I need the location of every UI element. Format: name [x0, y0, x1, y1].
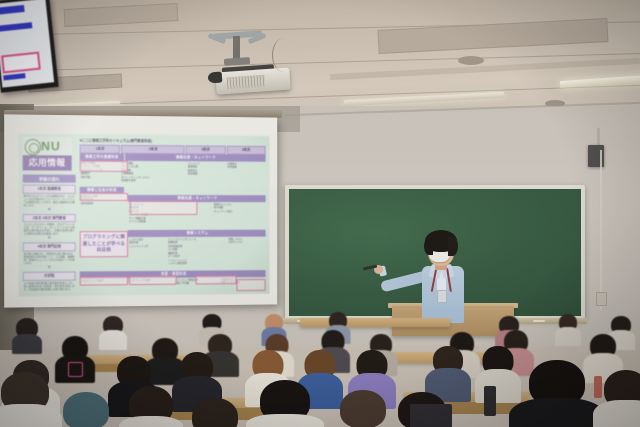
ceiling: [0, 0, 640, 118]
curriculum-table-title: ■ここに情報工学科カリキュラム(専門教育科目): [80, 138, 152, 143]
year-column-header: 4年次: [226, 146, 265, 155]
highlight-box: [237, 279, 266, 291]
flow-arrow-icon: ▼: [23, 208, 76, 212]
projection-screen: NU 応用情報 学部の流れ 1年次 基礎教育 数学やプログラミングの基礎を学び、…: [4, 114, 277, 307]
flow-step-body: 研究室に配属され、卒業研究に取り組みます。情報技術の応用分野として、人工知能、画…: [23, 251, 76, 264]
highlight-box: [129, 276, 177, 285]
course-list: 卒業研究特別講義: [227, 162, 264, 183]
presenter-id-badge: [437, 290, 447, 303]
speaker-mount: [597, 128, 600, 146]
highlight-box: [80, 161, 128, 172]
course-list: ヒューマンインタフェース画像処理音声情報処理人工知能機械学習データ科学シミュレー…: [168, 238, 227, 266]
highlight-box: [195, 275, 236, 284]
attendee: [520, 360, 594, 427]
year-column-header: 3年次: [186, 145, 226, 154]
flow-step-heading: 1年次 基礎教育: [23, 185, 76, 194]
attendee: [186, 398, 244, 427]
attendee: [0, 372, 56, 427]
ceiling-vent: [378, 18, 609, 54]
attendee: [598, 370, 640, 427]
flow-step-heading: 4年次 専門応用: [23, 243, 76, 252]
ceiling-vent: [64, 3, 179, 27]
university-emblem-icon: [25, 139, 41, 155]
projected-slide: NU 応用情報 学部の流れ 1年次 基礎教育 数学やプログラミングの基礎を学び、…: [19, 134, 270, 296]
course-list: システム設計要求分析ソフトウェア工学: [129, 238, 166, 266]
course-list: データ構造アルゴリズム論論理回路計算機構成オペレーティングシステム情報数学演習: [121, 162, 186, 183]
wall-monitor[interactable]: [0, 0, 59, 93]
highlight-box: [80, 193, 128, 201]
attendee: [14, 318, 40, 352]
attendee: [334, 390, 392, 427]
tote-bag: [410, 404, 452, 427]
attendee: [100, 316, 126, 350]
attendee: [556, 314, 580, 346]
curriculum-section: 情報システム システム設計要求分析ソフトウェア工学 ヒューマンインタフェース画像…: [128, 230, 266, 266]
course-list: コンパイラ数値解析確率統計情報理論: [188, 162, 226, 183]
course-list: 情報セキュリティ暗号理論ネットワーク設計: [214, 203, 265, 224]
slide-callout: プログラミングに関連したことが学べる科目例: [80, 231, 128, 257]
logo-initials: NU: [41, 138, 61, 154]
attendee: [56, 392, 116, 427]
presenter: [404, 228, 474, 323]
highlight-box: [130, 201, 197, 215]
section-header: 情報処理・ネットワーク: [125, 154, 266, 162]
year-column-header: 1年次: [80, 144, 121, 153]
wall-outlet: [596, 292, 607, 306]
thermos: [484, 386, 496, 416]
year-column-header: 2年次: [122, 145, 185, 155]
flow-arrow-icon: ▼: [23, 265, 76, 269]
ceiling-sensor: [458, 56, 484, 65]
department-name: 応用情報: [23, 155, 72, 170]
curriculum-flow: 学部の流れ 1年次 基礎教育 数学やプログラミングの基礎を学び、コンピュータの仕…: [23, 174, 76, 290]
flow-step-body: アルゴリズムやデータ構造、プログラミング言語、データベース、ネットワークなどの情…: [23, 222, 76, 235]
monitor-screen: [0, 0, 54, 88]
flow-step-heading: 2年次 3年次 専門教育: [23, 214, 76, 223]
presenter-hair: [448, 237, 458, 256]
section-header: 情報工学の基礎科目: [80, 154, 124, 161]
course-list: 知能システムロボティクス: [229, 237, 265, 265]
t-shirt-graphic: [68, 362, 83, 377]
presenter-hair: [424, 238, 433, 255]
lecture-desk: [300, 318, 450, 327]
attendee: [252, 380, 318, 427]
highlight-box: [80, 276, 128, 285]
attendee: [122, 386, 180, 427]
attendee: [58, 336, 92, 380]
flow-step-body: より高度な専門知識と研究能力を身につけ、高い技術力を持つ技術者・研究者を目指しま…: [23, 280, 76, 291]
flow-step-body: 数学やプログラミングの基礎を学び、コンピュータの仕組みやソフトウェア・ハードウェ…: [23, 193, 76, 206]
flow-title: 学部の流れ: [23, 174, 76, 182]
university-logo: NU 応用情報: [23, 137, 72, 172]
lecture-hall-photo: NU 応用情報 学部の流れ 1年次 基礎教育 数学やプログラミングの基礎を学び、…: [0, 0, 640, 427]
screen-pull-cord: [600, 150, 602, 310]
flow-arrow-icon: ▼: [23, 236, 76, 240]
